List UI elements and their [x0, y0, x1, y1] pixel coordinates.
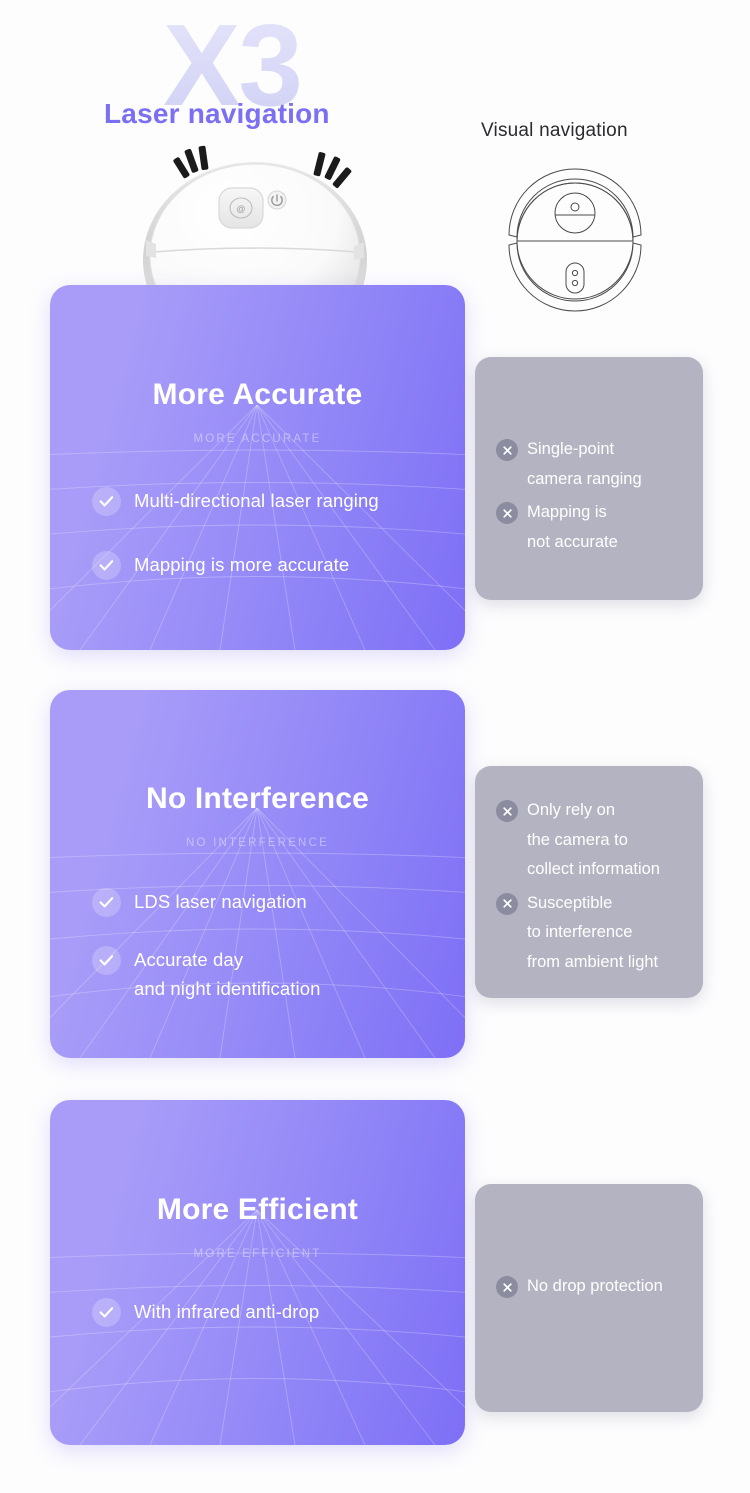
- cons-list-item: Mapping is not accurate: [496, 498, 703, 557]
- cons-card-no-interference: Only rely on the camera to collect infor…: [475, 766, 703, 998]
- section-more-accurate: More Accurate MORE ACCURATE Multi-direct…: [0, 285, 750, 650]
- perspective-grid: [50, 285, 465, 650]
- cons-list: No drop protection: [475, 1184, 703, 1302]
- pros-list-item: Multi-directional laser ranging: [92, 486, 465, 516]
- cons-list-item-text: Only rely on the camera to collect infor…: [527, 796, 660, 885]
- cons-list-item-text: Susceptible to interference from ambient…: [527, 889, 658, 978]
- pros-list-item-text: Multi-directional laser ranging: [134, 486, 379, 515]
- pros-list-item-text: Mapping is more accurate: [134, 550, 349, 579]
- cons-list-item: Susceptible to interference from ambient…: [496, 889, 703, 978]
- cons-list-item-text: Single-point camera ranging: [527, 435, 642, 494]
- perspective-grid: [50, 1100, 465, 1445]
- pros-card-more-efficient: More Efficient MORE EFFICIENT With infra…: [50, 1100, 465, 1445]
- pros-list-item: Mapping is more accurate: [92, 550, 465, 580]
- cons-card-more-accurate: Single-point camera ranging Mapping is n…: [475, 357, 703, 600]
- pros-list-item-text: LDS laser navigation: [134, 887, 307, 916]
- cons-list-item: Single-point camera ranging: [496, 435, 703, 494]
- cons-card-more-efficient: No drop protection: [475, 1184, 703, 1412]
- sensor-dot-top: [572, 270, 577, 275]
- pros-subtitle: NO INTERFERENCE: [50, 837, 465, 849]
- cons-list-item-text: No drop protection: [527, 1272, 663, 1302]
- pros-subtitle: MORE ACCURATE: [50, 433, 465, 445]
- cons-list: Only rely on the camera to collect infor…: [475, 766, 703, 977]
- camera-housing: [555, 193, 595, 233]
- robot-top-arc: [517, 183, 633, 241]
- pros-title: No Interference: [50, 782, 465, 816]
- pros-list-item-text: With infrared anti-drop: [134, 1297, 319, 1326]
- cons-list-item: No drop protection: [496, 1272, 703, 1302]
- cross-icon: [496, 439, 518, 461]
- pros-title: More Efficient: [50, 1193, 465, 1227]
- camera-lens: [571, 203, 579, 211]
- cross-icon: [496, 893, 518, 915]
- check-icon: [92, 1298, 121, 1327]
- check-icon: [92, 551, 121, 580]
- cons-list-item-text: Mapping is not accurate: [527, 498, 618, 557]
- visual-navigation-title: Visual navigation: [481, 120, 628, 142]
- svg-text:@: @: [236, 204, 245, 214]
- pros-list: Multi-directional laser ranging Mapping …: [50, 486, 465, 580]
- check-icon: [92, 888, 121, 917]
- pros-list-item: Accurate day and night identification: [92, 945, 465, 1003]
- pros-card-no-interference: No Interference NO INTERFERENCE LDS lase…: [50, 690, 465, 1058]
- section-no-interference: No Interference NO INTERFERENCE LDS lase…: [0, 690, 750, 1058]
- laser-navigation-title: Laser navigation: [104, 98, 330, 130]
- cons-list-item: Only rely on the camera to collect infor…: [496, 796, 703, 885]
- pros-title: More Accurate: [50, 378, 465, 412]
- check-icon: [92, 487, 121, 516]
- cross-icon: [496, 800, 518, 822]
- cross-icon: [496, 502, 518, 524]
- cross-icon: [496, 1276, 518, 1298]
- pros-subtitle: MORE EFFICIENT: [50, 1248, 465, 1260]
- check-icon: [92, 946, 121, 975]
- pros-list: With infrared anti-drop: [50, 1297, 465, 1327]
- section-more-efficient: More Efficient MORE EFFICIENT With infra…: [0, 1100, 750, 1445]
- cons-list: Single-point camera ranging Mapping is n…: [475, 357, 703, 557]
- pros-list-item-text: Accurate day and night identification: [134, 945, 321, 1003]
- pros-list: LDS laser navigation Accurate day and ni…: [50, 887, 465, 1003]
- pros-list-item: With infrared anti-drop: [92, 1297, 465, 1327]
- pros-list-item: LDS laser navigation: [92, 887, 465, 917]
- header: X3 Laser navigation Visual navigation: [0, 0, 750, 285]
- pros-card-more-accurate: More Accurate MORE ACCURATE Multi-direct…: [50, 285, 465, 650]
